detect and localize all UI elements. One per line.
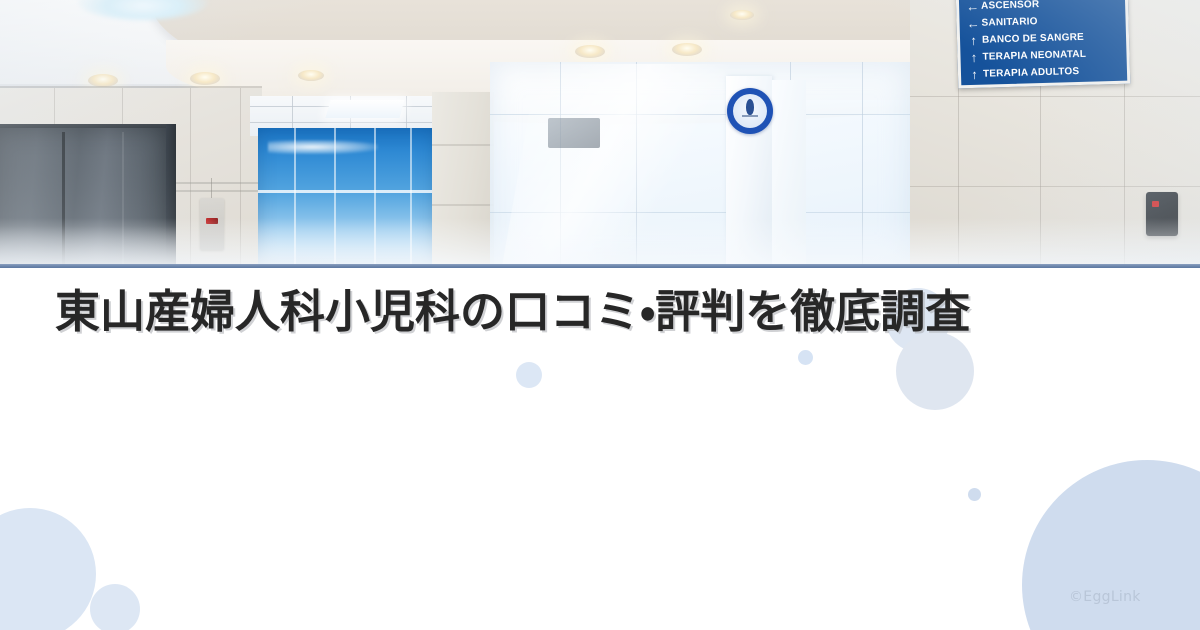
- decorative-circle: [896, 332, 974, 410]
- hero-photo: ← ASCENSOR ← SANITARIO ↑ BANCO DE SANGRE…: [0, 0, 1200, 265]
- lobby-scene: ← ASCENSOR ← SANITARIO ↑ BANCO DE SANGRE…: [0, 0, 1200, 265]
- decorative-circle: [798, 350, 813, 365]
- page-canvas: ← ASCENSOR ← SANITARIO ↑ BANCO DE SANGRE…: [0, 0, 1200, 630]
- decorative-circle: [516, 362, 542, 388]
- page-title: 東山産婦人科小児科の口コミ・評判を徹底調査: [55, 283, 1145, 341]
- decorative-circle: [968, 488, 981, 501]
- decorative-circle: [90, 584, 140, 630]
- hero-vignette: [0, 0, 1200, 265]
- watermark: ©EggLink: [1069, 589, 1141, 605]
